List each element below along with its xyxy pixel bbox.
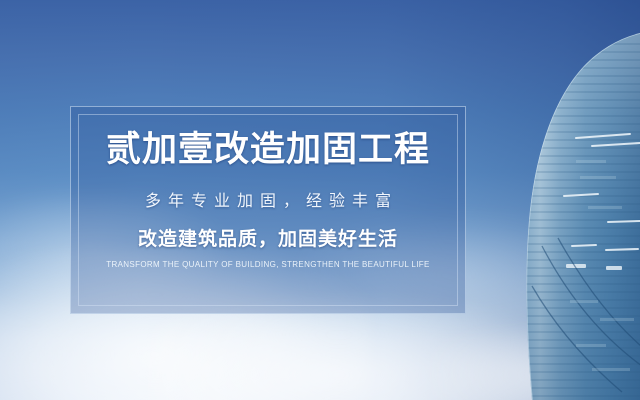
banner-subtitle-english: TRANSFORM THE QUALITY OF BUILDING, STREN… bbox=[106, 260, 429, 269]
banner-subtitle-one: 多年专业加固，经验丰富 bbox=[138, 187, 398, 211]
skyscraper-image bbox=[480, 0, 640, 400]
promo-banner: 贰加壹改造加固工程 多年专业加固，经验丰富 改造建筑品质，加固美好生活 TRAN… bbox=[0, 0, 640, 400]
banner-text-block: 贰加壹改造加固工程 多年专业加固，经验丰富 改造建筑品质，加固美好生活 TRAN… bbox=[70, 106, 466, 314]
banner-subtitle-two: 改造建筑品质，加固美好生活 bbox=[138, 224, 398, 251]
skyscraper-icon bbox=[480, 0, 640, 400]
banner-headline: 贰加壹改造加固工程 bbox=[106, 132, 430, 169]
